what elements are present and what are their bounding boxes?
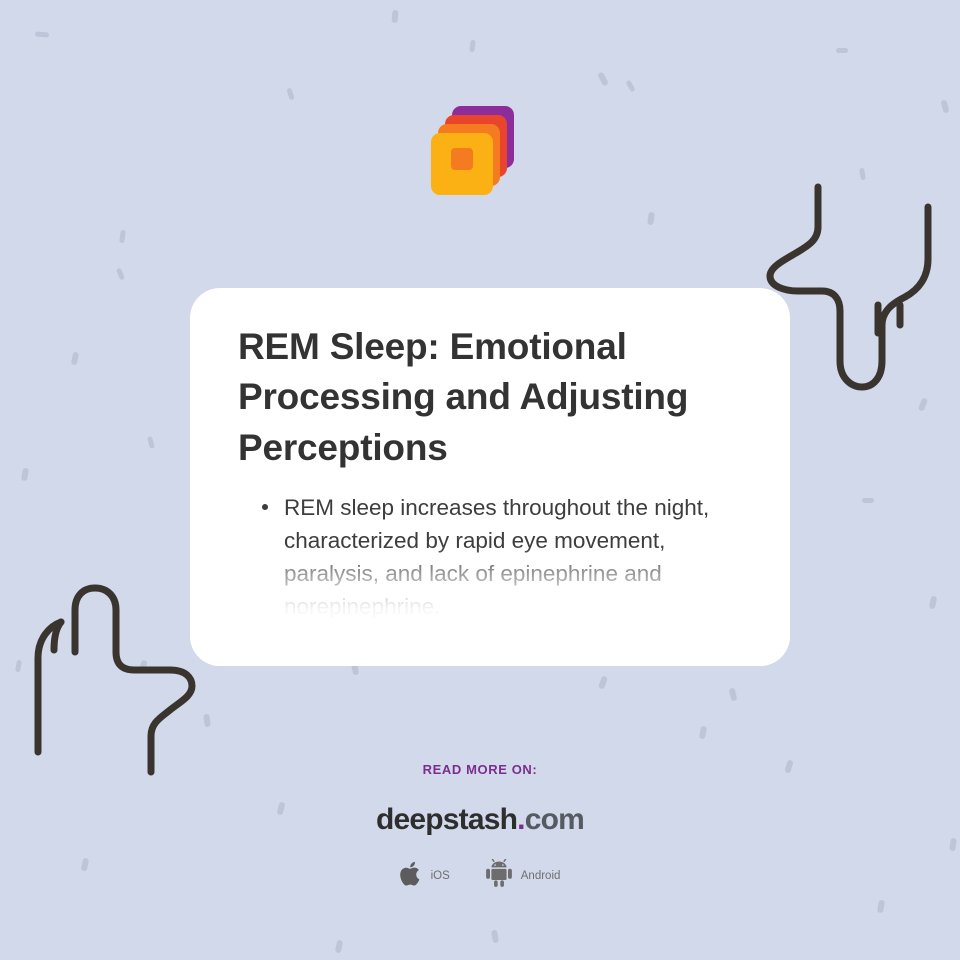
confetti-speck	[598, 675, 608, 689]
content-card: REM Sleep: Emotional Processing and Adju…	[190, 288, 790, 666]
android-icon	[484, 859, 514, 893]
confetti-speck	[21, 468, 29, 482]
confetti-speck	[391, 10, 398, 23]
ios-store-link[interactable]: iOS	[400, 860, 450, 893]
apple-icon	[400, 860, 424, 893]
wordmark-dot: .	[517, 803, 525, 836]
wordmark-brand: deepstash	[376, 803, 517, 836]
ios-label: iOS	[431, 870, 450, 882]
confetti-speck	[597, 71, 609, 86]
confetti-speck	[116, 268, 125, 281]
confetti-speck	[877, 900, 885, 914]
confetti-speck	[491, 930, 499, 944]
read-more-label: READ MORE ON:	[0, 762, 960, 777]
confetti-speck	[625, 80, 635, 93]
confetti-speck	[729, 687, 738, 701]
confetti-speck	[929, 596, 938, 610]
confetti-speck	[918, 397, 928, 411]
confetti-speck	[647, 212, 655, 226]
list-item: This stage is crucial for processing emo…	[260, 627, 742, 660]
app-store-links: iOS	[0, 859, 960, 893]
confetti-speck	[335, 940, 344, 954]
confetti-speck	[35, 31, 49, 37]
confetti-speck	[286, 88, 294, 101]
confetti-speck	[859, 168, 866, 181]
android-store-link[interactable]: Android	[484, 859, 561, 893]
confetti-speck	[15, 660, 22, 673]
confetti-speck	[940, 99, 949, 113]
confetti-speck	[138, 659, 148, 673]
deepstash-wordmark[interactable]: deepstash.com	[0, 803, 960, 837]
deepstash-logo	[425, 100, 520, 198]
wordmark-tld: com	[525, 803, 584, 836]
android-label: Android	[521, 870, 561, 882]
confetti-speck	[836, 48, 848, 53]
page-title: REM Sleep: Emotional Processing and Adju…	[238, 322, 742, 473]
share-card-canvas: REM Sleep: Emotional Processing and Adju…	[0, 0, 960, 960]
pointing-hand-icon-top-right	[760, 175, 960, 400]
confetti-speck	[862, 498, 874, 503]
idea-bullet-list: REM sleep increases throughout the night…	[238, 491, 742, 660]
confetti-speck	[147, 436, 155, 449]
footer: READ MORE ON: deepstash.com iOS	[0, 762, 960, 893]
confetti-speck	[119, 230, 126, 244]
pointing-hand-icon-bottom-left	[20, 560, 215, 785]
confetti-speck	[71, 352, 80, 366]
list-item: REM sleep increases throughout the night…	[260, 491, 742, 623]
confetti-speck	[699, 726, 708, 740]
confetti-speck	[203, 714, 211, 728]
confetti-speck	[469, 40, 476, 53]
